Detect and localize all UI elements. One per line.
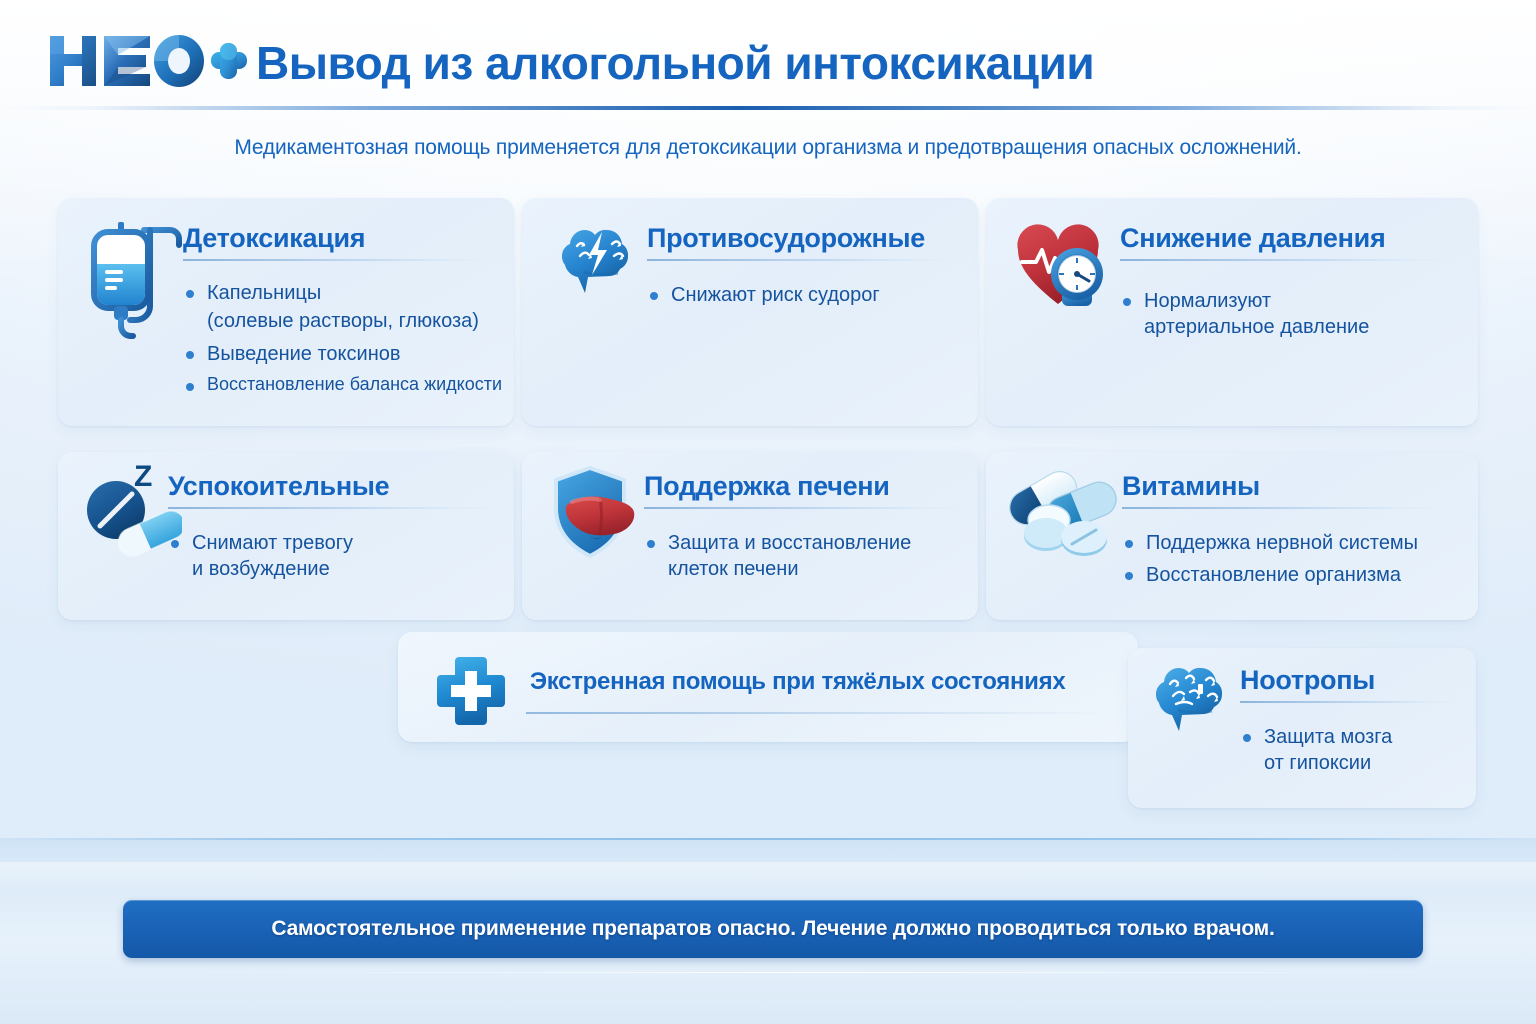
emergency-banner[interactable]: Экстренная помощь при тяжёлых состояниях <box>398 632 1138 742</box>
list-item-text: Защита и восстановление <box>668 532 911 554</box>
card-detoxication-header: Детоксикация <box>183 224 493 261</box>
card-vitamins-header: Витамины <box>1122 472 1442 509</box>
list-item-sub: (солевые растворы, глюкоза) <box>183 308 503 334</box>
card-title: Детоксикация <box>183 224 493 252</box>
card-sedatives-header: Успокоительные <box>168 472 498 509</box>
list-item: Поддержка нервной системы <box>1122 530 1462 556</box>
card-anticonvulsants[interactable]: Противосудорожные Снижают риск судорог <box>522 198 978 426</box>
title-divider <box>183 259 493 261</box>
list-item-text: Защита мозга <box>1264 726 1392 748</box>
card-nootropics-bullets: Защита мозга от гипоксии <box>1240 724 1470 783</box>
svg-text:Z: Z <box>134 460 152 493</box>
background-bottom-sheen <box>0 862 1536 890</box>
card-nootropics-header: Ноотропы <box>1240 666 1458 703</box>
list-item-continuation: и возбуждение <box>192 556 498 582</box>
list-item-continuation: артериальное давление <box>1144 314 1450 340</box>
brain-lightning-icon <box>550 220 646 315</box>
card-sedatives[interactable]: Z Успокоительные Снимают тревогу и возбу… <box>58 452 514 620</box>
brain-icon <box>1146 658 1238 747</box>
card-liver-support-bullets: Защита и восстановление клеток печени <box>644 530 974 589</box>
list-item: Снимают тревогу и возбуждение <box>168 530 498 583</box>
vitamin-pills-icon <box>994 460 1122 565</box>
card-vitamins-bullets: Поддержка нервной системы Восстановление… <box>1122 530 1462 595</box>
card-vitamins[interactable]: Витамины Поддержка нервной системы Восст… <box>986 452 1478 620</box>
card-blood-pressure-bullets: Нормализуют артериальное давление <box>1120 288 1450 347</box>
brand-logo <box>48 32 248 90</box>
medical-cross-icon <box>434 654 508 733</box>
card-anticonvulsants-bullets: Снижают риск судорог <box>647 282 957 314</box>
list-item-continuation: от гипоксии <box>1264 750 1470 776</box>
list-item-text: Нормализуют <box>1144 290 1271 312</box>
list-item: Защита и восстановление клеток печени <box>644 530 974 583</box>
shield-liver-icon <box>542 462 652 572</box>
card-liver-support[interactable]: Поддержка печени Защита и восстановление… <box>522 452 978 620</box>
warning-banner[interactable]: Самостоятельное применение препаратов оп… <box>123 900 1423 958</box>
page-subtitle: Медикаментозная помощь применяется для д… <box>0 136 1536 160</box>
card-detoxication-bullets: Капельницы (солевые растворы, глюкоза) В… <box>183 280 503 403</box>
card-nootropics[interactable]: Ноотропы Защита мозга от гипоксии <box>1128 648 1476 808</box>
header-divider <box>0 106 1536 110</box>
page-title: Вывод из алкогольной интоксикации <box>256 36 1094 90</box>
warning-text: Самостоятельное применение препаратов оп… <box>271 917 1274 941</box>
list-item: Защита мозга от гипоксии <box>1240 724 1470 777</box>
title-divider <box>1240 701 1458 703</box>
title-divider <box>647 259 957 261</box>
background-bottom-line <box>180 972 1476 973</box>
iv-drip-icon <box>78 216 188 346</box>
card-title: Ноотропы <box>1240 666 1458 694</box>
list-item: Восстановление организма <box>1122 562 1462 588</box>
title-divider <box>168 507 498 509</box>
card-title: Поддержка печени <box>644 472 964 500</box>
card-blood-pressure-header: Снижение давления <box>1120 224 1450 261</box>
card-title: Противосудорожные <box>647 224 957 252</box>
card-liver-support-header: Поддержка печени <box>644 472 964 509</box>
title-divider <box>644 507 964 509</box>
list-item-text: Снимают тревогу <box>192 532 353 554</box>
title-divider <box>1120 259 1450 261</box>
list-item-continuation: клеток печени <box>668 556 974 582</box>
card-title: Витамины <box>1122 472 1442 500</box>
sedative-pill-z-icon: Z <box>72 460 182 570</box>
card-title: Успокоительные <box>168 472 498 500</box>
card-sedatives-bullets: Снимают тревогу и возбуждение <box>168 530 498 589</box>
page-header: Вывод из алкогольной интоксикации <box>0 0 1536 115</box>
card-detoxication[interactable]: Детоксикация Капельницы (солевые раствор… <box>58 198 514 426</box>
title-divider <box>1122 507 1442 509</box>
list-item: Выведение токсинов <box>183 341 503 367</box>
emergency-divider <box>526 712 1106 714</box>
card-anticonvulsants-header: Противосудорожные <box>647 224 957 261</box>
list-item: Нормализуют артериальное давление <box>1120 288 1450 341</box>
list-item: Снижают риск судорог <box>647 282 957 308</box>
card-blood-pressure[interactable]: Снижение давления Нормализуют артериальн… <box>986 198 1478 426</box>
list-item: Восстановление баланса жидкости <box>183 373 503 397</box>
card-title: Снижение давления <box>1120 224 1450 252</box>
emergency-label: Экстренная помощь при тяжёлых состояниях <box>530 668 1065 696</box>
heart-pressure-gauge-icon <box>1012 216 1122 321</box>
list-item: Капельницы <box>183 280 503 306</box>
